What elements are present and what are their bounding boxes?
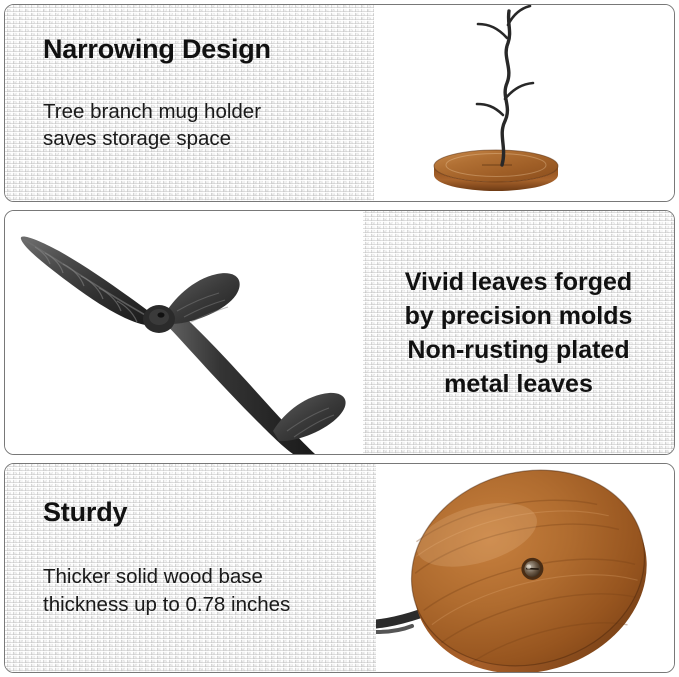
wood-disc-shape [388, 464, 670, 672]
mug-holder-full-view-photo [374, 5, 674, 201]
wooden-base-photo [376, 464, 674, 672]
panel-3-body-line-2: thickness up to 0.78 inches [43, 591, 376, 619]
panel-2-body: Vivid leaves forged by precision molds N… [405, 265, 633, 401]
panel-2-body-line-2: by precision molds [405, 299, 633, 333]
metal-leaf-small-shape [273, 393, 346, 441]
panel-1-text-block: Narrowing Design Tree branch mug holder … [5, 5, 374, 201]
panel-2-body-line-1: Vivid leaves forged [405, 265, 633, 299]
panel-1-title: Narrowing Design [43, 34, 374, 65]
feature-panel-vivid-leaves: Vivid leaves forged by precision molds N… [4, 210, 675, 455]
metal-leaf-closeup-photo [5, 211, 363, 454]
metal-leaf-large-shape [21, 236, 157, 325]
branch-twigs-shape [477, 6, 533, 115]
panel-3-body-line-1: Thicker solid wood base [43, 563, 376, 591]
panel-3-text-block: Sturdy Thicker solid wood base thickness… [5, 464, 376, 672]
panel-2-body-line-4: metal leaves [405, 367, 633, 401]
feature-panel-narrowing-design: Narrowing Design Tree branch mug holder … [4, 4, 675, 202]
wood-base-shape [434, 150, 558, 191]
panel-1-body: Tree branch mug holder saves storage spa… [43, 98, 374, 152]
branch-node-shape [143, 305, 175, 333]
product-infographic: Narrowing Design Tree branch mug holder … [0, 0, 679, 677]
panel-2-body-line-3: Non-rusting plated [405, 333, 633, 367]
panel-2-text-block: Vivid leaves forged by precision molds N… [363, 211, 674, 454]
panel-1-body-line-2: saves storage space [43, 125, 374, 152]
panel-3-title: Sturdy [43, 497, 376, 528]
feature-panel-sturdy: Sturdy Thicker solid wood base thickness… [4, 463, 675, 673]
panel-3-body: Thicker solid wood base thickness up to … [43, 563, 376, 619]
panel-1-body-line-1: Tree branch mug holder [43, 98, 374, 125]
